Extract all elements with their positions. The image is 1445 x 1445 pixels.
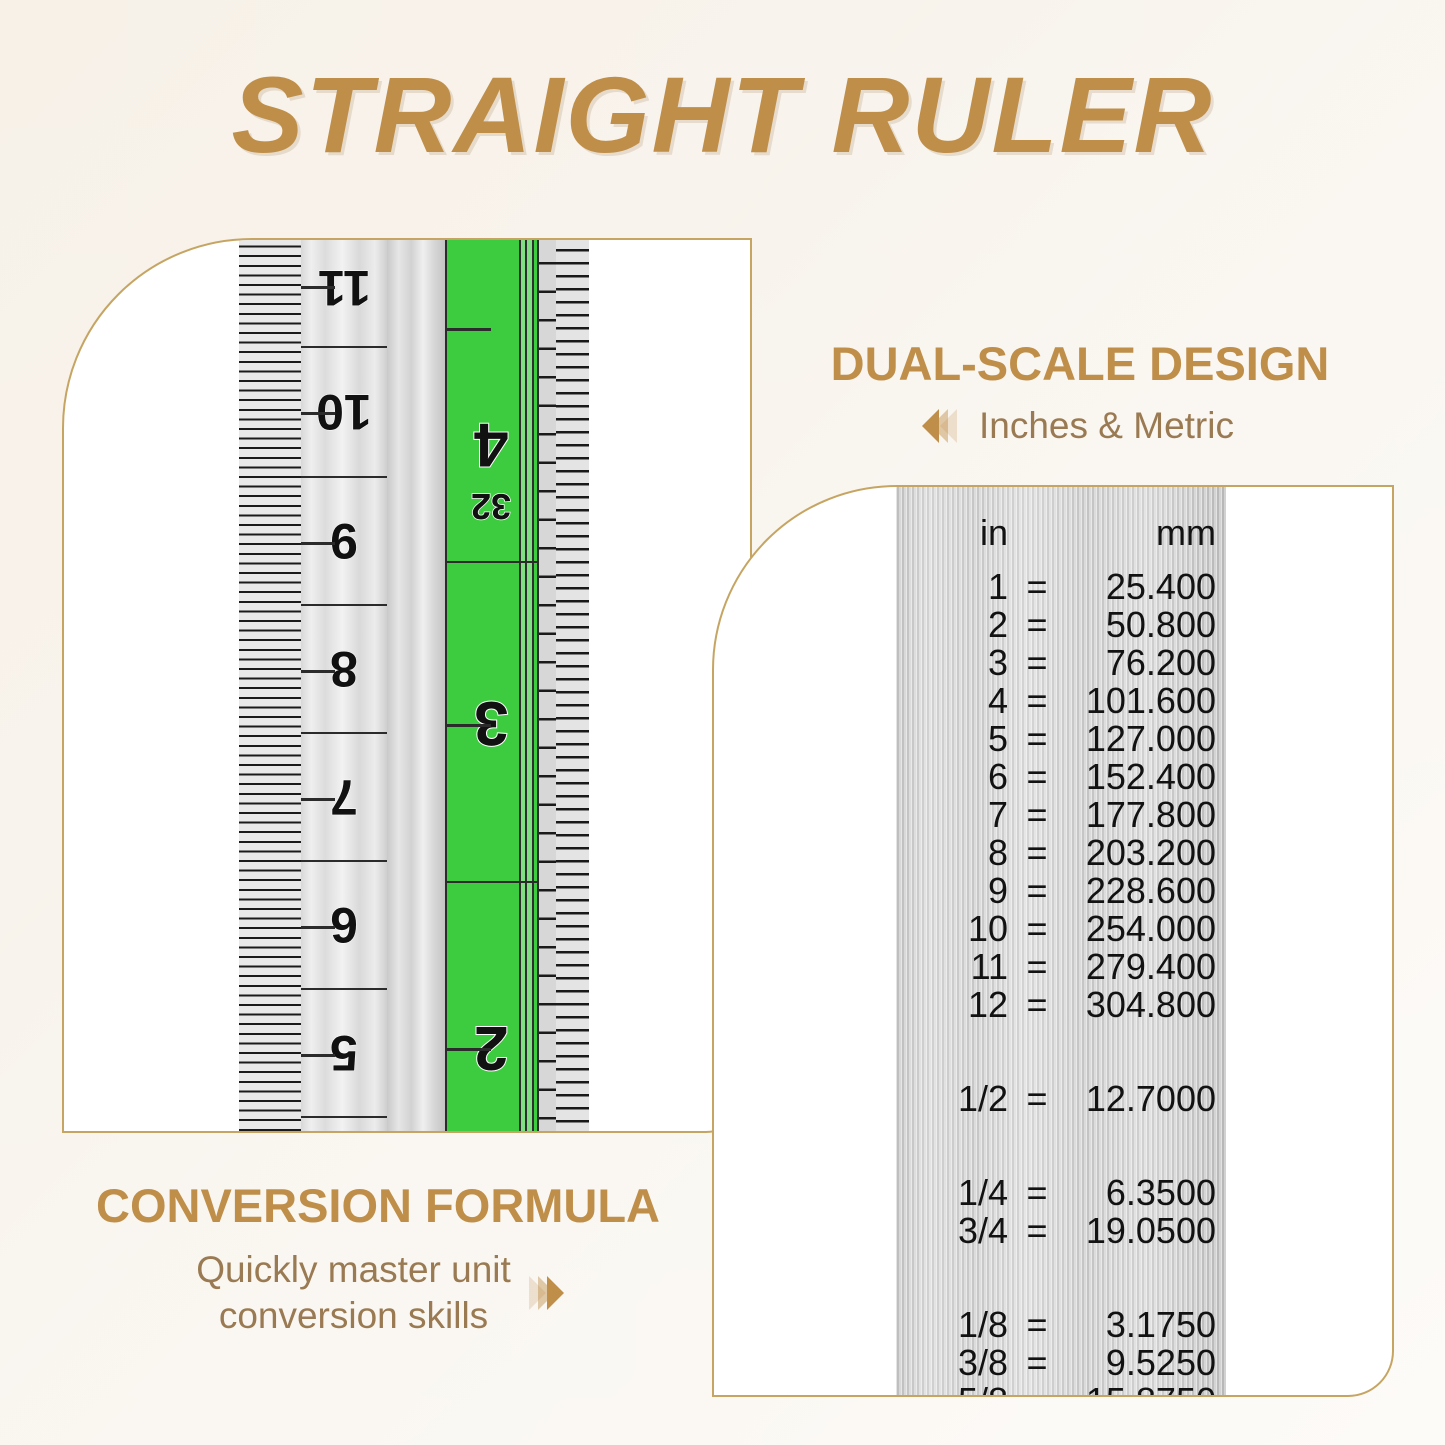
cell-inches: 1/8: [896, 1307, 1008, 1343]
cell-millimeters: 203.200: [1066, 835, 1220, 871]
cell-millimeters: 254.000: [1066, 911, 1220, 947]
cell-inches: 10: [896, 911, 1008, 947]
table-header-row: in mm: [896, 515, 1226, 551]
table-group-gap: [896, 1119, 1226, 1175]
cell-millimeters: 3.1750: [1066, 1307, 1220, 1343]
table-row: 3/8=9.5250: [896, 1345, 1226, 1383]
inch-fraction-tick-column: [537, 238, 589, 1133]
cell-equals: =: [1008, 835, 1066, 871]
cm-cell: 11: [301, 238, 387, 348]
cell-equals: =: [1008, 949, 1066, 985]
cell-inches: 1: [896, 569, 1008, 605]
table-row: 5/8=15.8750: [896, 1383, 1226, 1397]
conversion-table: in mm 1=25.4002=50.8003=76.2004=101.6005…: [896, 515, 1226, 1397]
table-row: 8=203.200: [896, 835, 1226, 873]
table-row: 5=127.000: [896, 721, 1226, 759]
cell-millimeters: 50.800: [1066, 607, 1220, 643]
cell-millimeters: 177.800: [1066, 797, 1220, 833]
cell-equals: =: [1008, 873, 1066, 909]
cell-equals: =: [1008, 759, 1066, 795]
cm-cell: 4: [301, 1118, 387, 1133]
table-row: 12=304.800: [896, 987, 1226, 1025]
header-spacer: [1008, 515, 1066, 551]
conversion-subtitle-line-2: conversion skills: [196, 1293, 511, 1339]
cell-inches: 3: [896, 645, 1008, 681]
cell-inches: 1/2: [896, 1081, 1008, 1117]
table-row: 11=279.400: [896, 949, 1226, 987]
inch-cell: 2: [445, 883, 537, 1133]
cell-millimeters: 304.800: [1066, 987, 1220, 1023]
cell-millimeters: 76.200: [1066, 645, 1220, 681]
table-row: 1/2=12.7000: [896, 1081, 1226, 1119]
table-row: 2=50.800: [896, 607, 1226, 645]
cell-equals: =: [1008, 797, 1066, 833]
table-row: 7=177.800: [896, 797, 1226, 835]
header-in: in: [896, 515, 1008, 551]
cell-millimeters: 228.600: [1066, 873, 1220, 909]
cell-millimeters: 101.600: [1066, 683, 1220, 719]
millimeter-tick-column: [239, 238, 303, 1133]
table-group-gap: [896, 1251, 1226, 1307]
cell-equals: =: [1008, 1307, 1066, 1343]
cell-equals: =: [1008, 683, 1066, 719]
cell-equals: =: [1008, 1345, 1066, 1381]
dual-scale-title: DUAL-SCALE DESIGN: [760, 336, 1400, 391]
cell-inches: 12: [896, 987, 1008, 1023]
cell-inches: 4: [896, 683, 1008, 719]
cell-inches: 11: [896, 949, 1008, 985]
cell-millimeters: 15.8750: [1066, 1383, 1220, 1397]
cell-equals: =: [1008, 1175, 1066, 1211]
cell-equals: =: [1008, 1081, 1066, 1117]
chevron-left-icon: [940, 409, 957, 443]
table-row: 1/4=6.3500: [896, 1175, 1226, 1213]
cell-millimeters: 9.5250: [1066, 1345, 1220, 1381]
cell-millimeters: 279.400: [1066, 949, 1220, 985]
conversion-formula-title: CONVERSION FORMULA: [48, 1178, 708, 1233]
table-row: 9=228.600: [896, 873, 1226, 911]
cell-inches: 1/4: [896, 1175, 1008, 1211]
cell-millimeters: 25.400: [1066, 569, 1220, 605]
cell-inches: 9: [896, 873, 1008, 909]
chevron-right-group: [533, 1276, 560, 1310]
table-row: 4=101.600: [896, 683, 1226, 721]
cell-millimeters: 127.000: [1066, 721, 1220, 757]
cell-equals: =: [1008, 569, 1066, 605]
dual-scale-heading-block: DUAL-SCALE DESIGN Inches & Metric: [760, 336, 1400, 447]
ruler-graphic: 11 10 9 8 7 6 5 4 4 3 2 32: [239, 238, 587, 1133]
cell-inches: 5/8: [896, 1383, 1008, 1397]
table-row: 1=25.400: [896, 569, 1226, 607]
page-title: STRAIGHT RULER: [0, 52, 1445, 177]
cell-equals: =: [1008, 645, 1066, 681]
cell-millimeters: 12.7000: [1066, 1081, 1220, 1117]
table-row: 10=254.000: [896, 911, 1226, 949]
cell-inches: 7: [896, 797, 1008, 833]
cell-inches: 3/8: [896, 1345, 1008, 1381]
table-body: 1=25.4002=50.8003=76.2004=101.6005=127.0…: [896, 569, 1226, 1397]
chevron-right-icon: [538, 1276, 555, 1310]
conversion-table-panel: in mm 1=25.4002=50.8003=76.2004=101.6005…: [712, 485, 1394, 1397]
table-row: 3/4=19.0500: [896, 1213, 1226, 1251]
header-mm: mm: [1066, 515, 1220, 551]
table-row: 6=152.400: [896, 759, 1226, 797]
conversion-formula-subtitle: Quickly master unit conversion skills: [196, 1247, 511, 1340]
table-row: 1/8=3.1750: [896, 1307, 1226, 1345]
cell-equals: =: [1008, 987, 1066, 1023]
cell-millimeters: 152.400: [1066, 759, 1220, 795]
cell-equals: =: [1008, 1383, 1066, 1397]
cell-inches: 5: [896, 721, 1008, 757]
inch-fraction-label: 32: [445, 466, 537, 546]
conversion-subtitle-line-1: Quickly master unit: [196, 1247, 511, 1293]
cell-equals: =: [1008, 911, 1066, 947]
cell-inches: 6: [896, 759, 1008, 795]
ruler-image-panel: 11 10 9 8 7 6 5 4 4 3 2 32: [62, 238, 752, 1133]
cell-inches: 3/4: [896, 1213, 1008, 1249]
conversion-formula-heading-block: CONVERSION FORMULA Quickly master unit c…: [48, 1178, 708, 1340]
cell-equals: =: [1008, 1213, 1066, 1249]
chevron-left-group: [926, 409, 953, 443]
cell-inches: 8: [896, 835, 1008, 871]
cell-millimeters: 19.0500: [1066, 1213, 1220, 1249]
inch-subdivision-ticks: [539, 238, 556, 1133]
cell-inches: 2: [896, 607, 1008, 643]
inch-cell: 3: [445, 563, 537, 883]
dual-scale-subtitle: Inches & Metric: [979, 405, 1234, 447]
cell-millimeters: 6.3500: [1066, 1175, 1220, 1211]
table-group-gap: [896, 1025, 1226, 1081]
cell-equals: =: [1008, 721, 1066, 757]
ruler-silver-gap: [387, 238, 445, 1133]
table-row: 3=76.200: [896, 645, 1226, 683]
cell-equals: =: [1008, 607, 1066, 643]
